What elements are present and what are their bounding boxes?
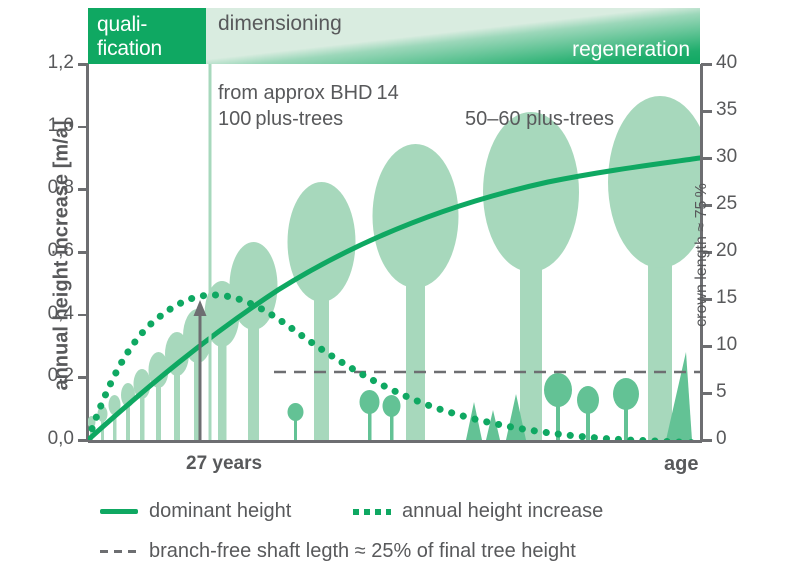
legend-item-branch-free-shaft: branch-free shaft legth ≈ 25% of final t… — [100, 540, 576, 563]
right-tick-label: 40 — [716, 52, 758, 74]
left-tick-label: 1,2 — [22, 52, 74, 74]
sapling-small-3 — [383, 395, 401, 440]
right-tick-label: 0 — [716, 428, 758, 450]
legend-swatch-dashed-line-icon — [100, 550, 138, 553]
left-tick-label: 0,6 — [22, 240, 74, 262]
legend-swatch-dotted-line-icon — [353, 509, 391, 515]
legend-label-dominant-height: dominant height — [149, 500, 291, 523]
sapling-small-1 — [288, 403, 304, 440]
qualification-line-1: quali- — [97, 13, 147, 36]
right-tick-label: 5 — [716, 381, 758, 403]
left-tick-label: 0,0 — [22, 428, 74, 450]
phase-label-regeneration: regeneration — [572, 38, 690, 62]
legend-label-branch-free-shaft: branch-free shaft legth ≈ 25% of final t… — [149, 540, 576, 563]
x-axis-label: age — [664, 453, 698, 476]
x-axis-line — [88, 440, 702, 443]
canopy-tree-3 — [373, 144, 459, 440]
legend-item-dominant-height: dominant height — [100, 500, 291, 523]
left-tick-label: 0,4 — [22, 303, 74, 325]
sapling-row — [88, 281, 240, 440]
legend-item-annual-height-increase: annual height increase — [353, 500, 603, 523]
phase-label-qualification: quali- fication — [97, 13, 162, 61]
right-tick-label: 25 — [716, 193, 758, 215]
sapling-small-2 — [360, 390, 380, 440]
annotation-50-60-plus-trees: 50–60 plus-trees — [465, 108, 614, 131]
sapling-medium-3 — [613, 378, 639, 440]
phase-band-dimensioning: dimensioning regeneration — [206, 8, 700, 64]
right-tick-label: 35 — [716, 99, 758, 121]
right-tick-label: 30 — [716, 146, 758, 168]
legend-label-annual-height-increase: annual height increase — [402, 500, 603, 523]
left-tick-label: 1,0 — [22, 115, 74, 137]
legend-row-1: dominant height annual height increase — [88, 498, 778, 532]
phase-label-dimensioning: dimensioning — [218, 12, 342, 36]
annotation-bhd: from approx BHD 14 — [218, 82, 399, 105]
right-tick-label: 15 — [716, 287, 758, 309]
left-tick-label: 0,2 — [22, 365, 74, 387]
canopy-tree-2 — [288, 182, 356, 440]
x-axis-marker-label: 27 years — [186, 453, 262, 475]
understory-regeneration — [288, 352, 693, 440]
sapling-medium-2 — [577, 386, 599, 440]
annotation-crown-length: crown length ≈ 75 % — [693, 155, 711, 355]
annotation-100-plus-trees: 100 plus-trees — [218, 108, 343, 131]
legend: dominant height annual height increase b… — [88, 498, 778, 566]
right-tick-label: 20 — [716, 240, 758, 262]
legend-row-2: branch-free shaft legth ≈ 25% of final t… — [88, 532, 778, 566]
phase-banner: quali- fication dimensioning regeneratio… — [88, 8, 700, 64]
phase-band-qualification: quali- fication — [88, 8, 206, 64]
right-tick-label: 10 — [716, 334, 758, 356]
left-tick-label: 0,8 — [22, 177, 74, 199]
chart-root: quali- fication dimensioning regeneratio… — [0, 0, 800, 579]
qualification-line-2: fication — [97, 37, 162, 60]
legend-swatch-solid-line-icon — [100, 509, 138, 514]
canopy-tree-1 — [230, 242, 278, 440]
